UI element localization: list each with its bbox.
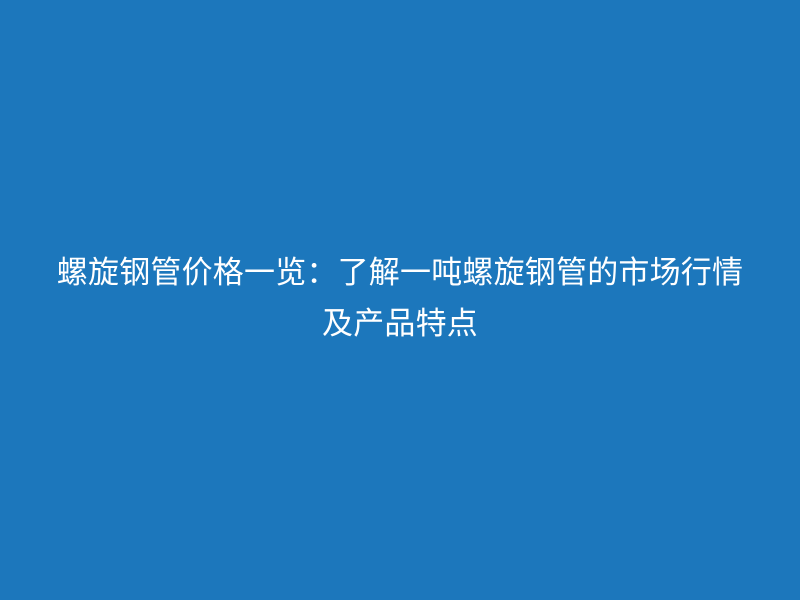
page-title-line-1: 螺旋钢管价格一览：了解一吨螺旋钢管的市场行情 [40, 248, 760, 299]
page-title: 螺旋钢管价格一览：了解一吨螺旋钢管的市场行情 及产品特点 [40, 248, 760, 350]
page-title-line-2: 及产品特点 [40, 299, 760, 350]
banner-background: 螺旋钢管价格一览：了解一吨螺旋钢管的市场行情 及产品特点 [0, 0, 800, 600]
